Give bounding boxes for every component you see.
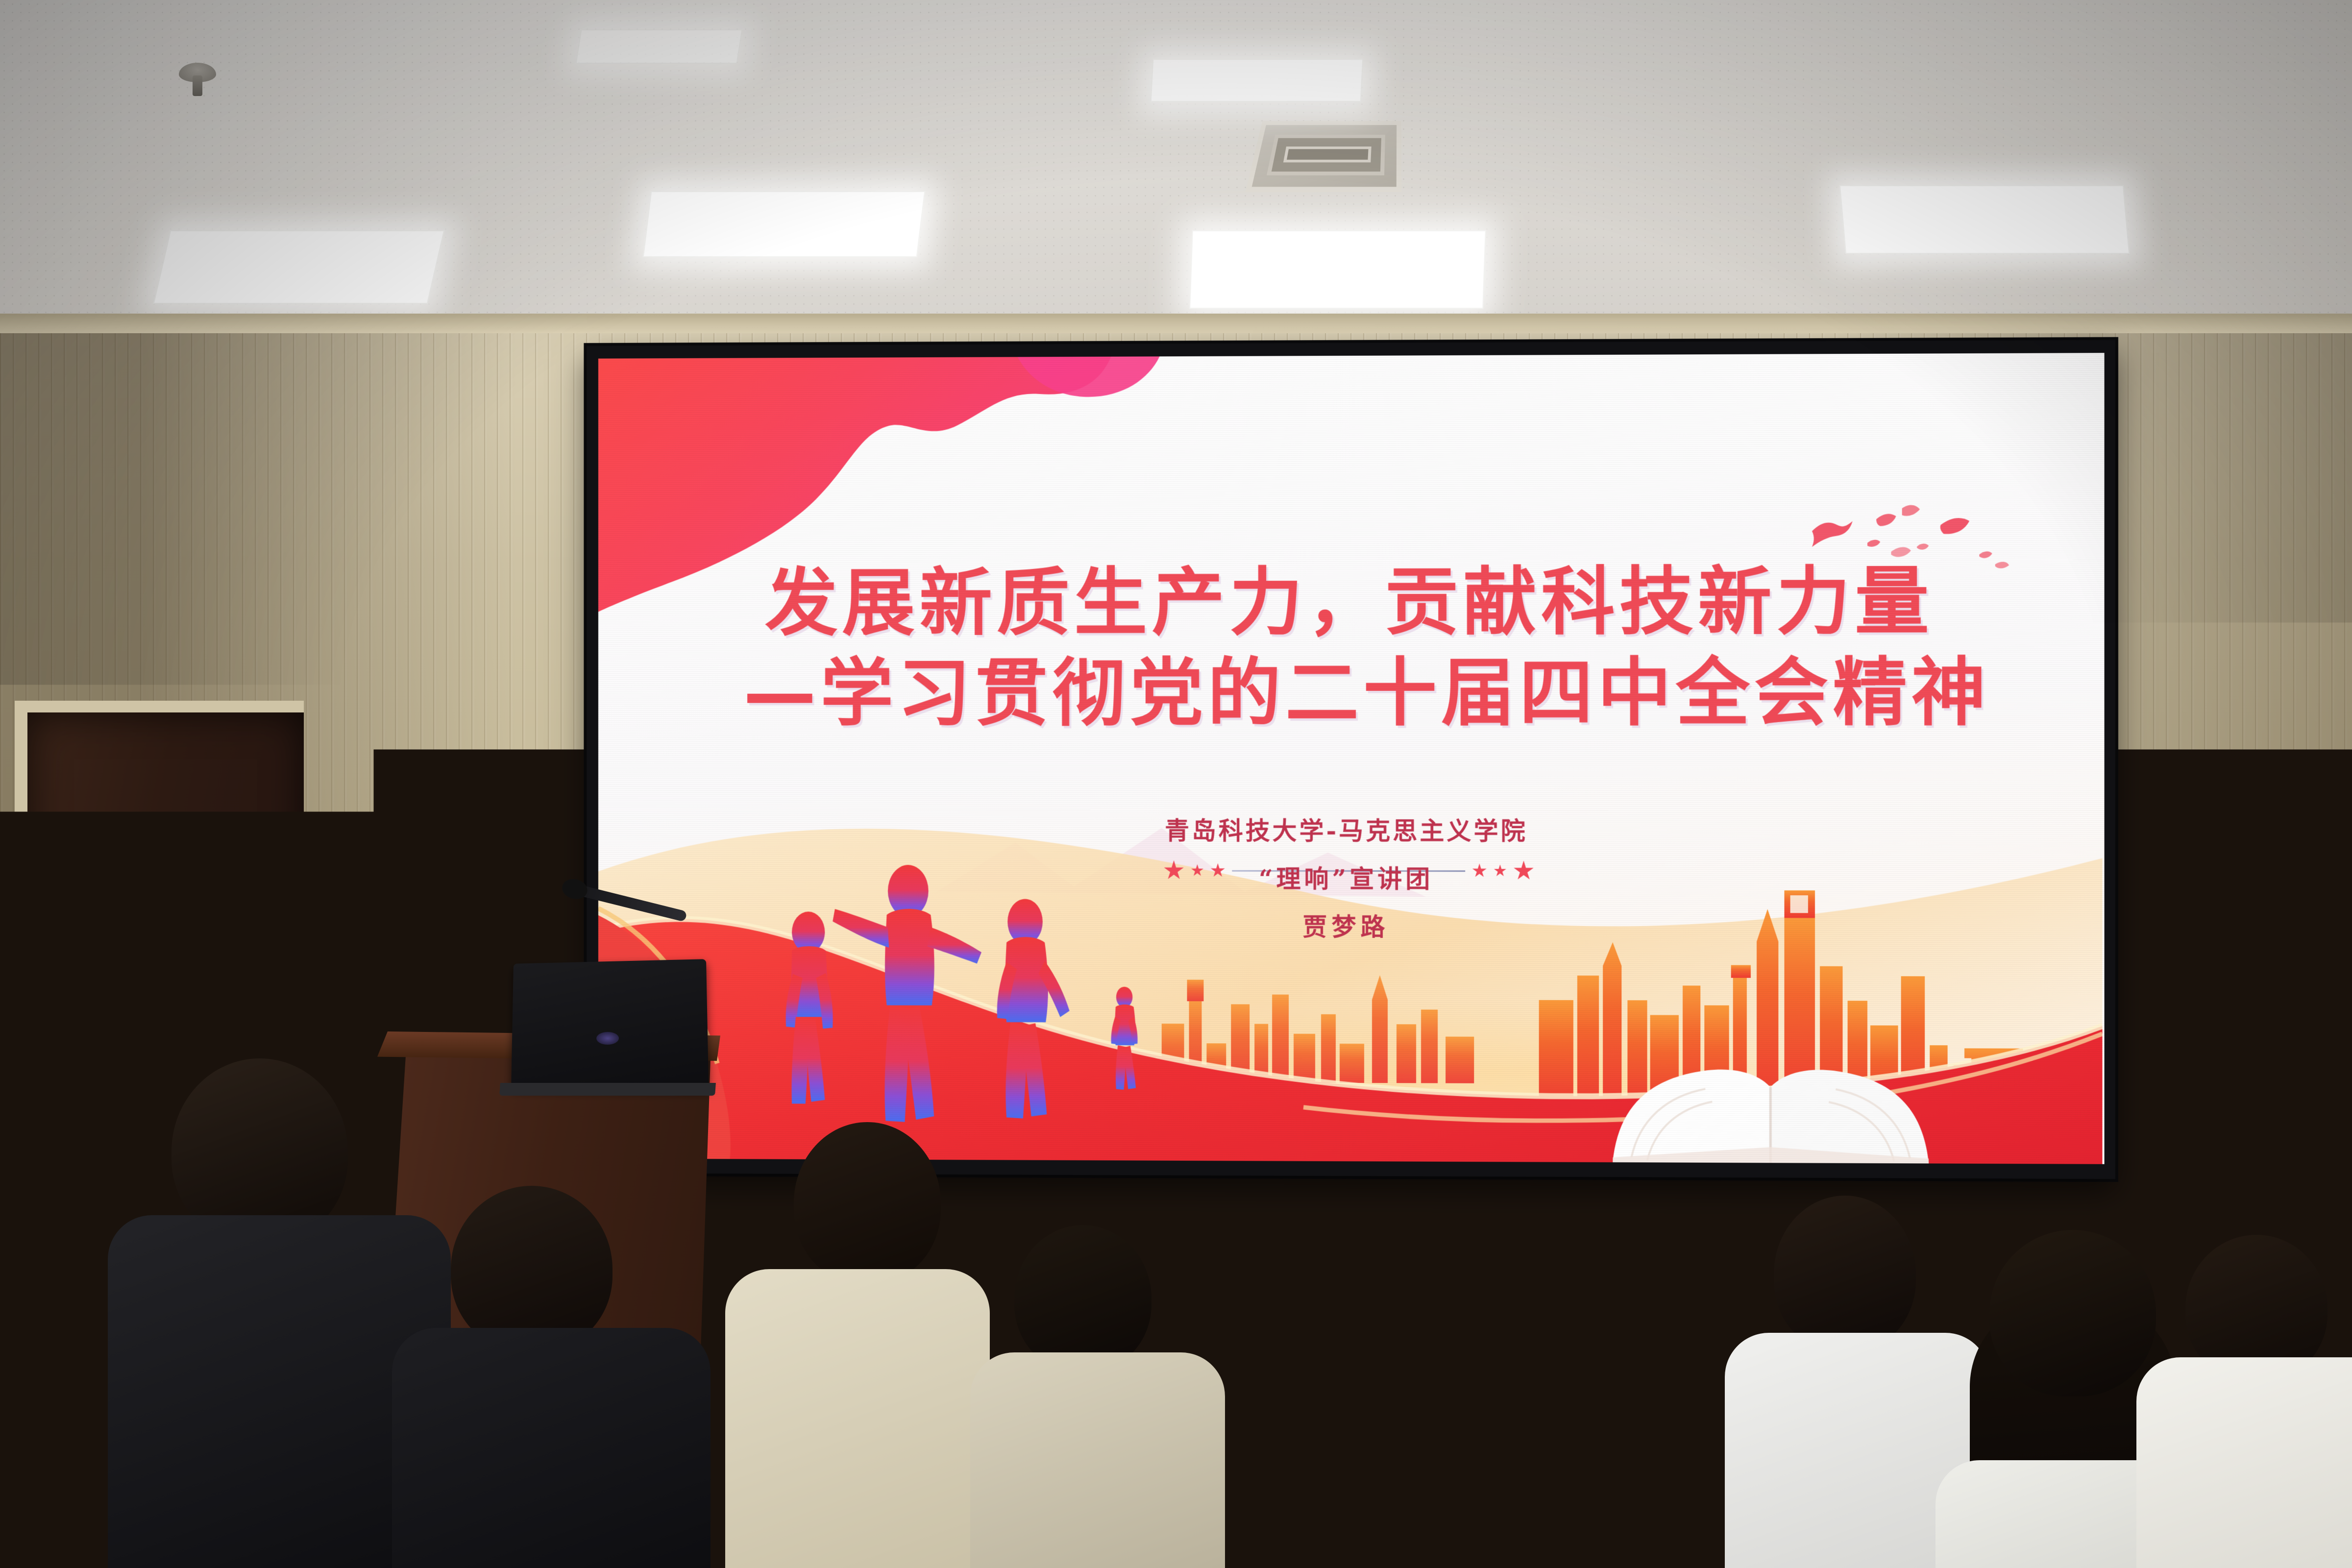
audience-torso <box>2136 1357 2352 1568</box>
presenter-laptop[interactable] <box>511 959 709 1089</box>
presenter-eye <box>404 904 418 909</box>
presenter-eyebrow <box>401 895 420 898</box>
ceiling-light-panel <box>1189 230 1486 309</box>
ceiling-light-panel <box>153 230 445 304</box>
wall-switch-plate[interactable] <box>1357 1352 1402 1396</box>
slide-title-line-2: —学习贯彻党的二十届四中全会精神 <box>598 650 2105 736</box>
sprinkler-icon <box>179 63 216 82</box>
subtitle-team: “理响”宣讲团 <box>598 859 2105 896</box>
plug-icon <box>1270 1370 1296 1394</box>
audience-torso <box>392 1328 710 1568</box>
audience-member <box>985 1225 1200 1568</box>
air-vent-icon <box>1246 121 1402 192</box>
audience-torso <box>725 1269 990 1568</box>
audience-head <box>1014 1225 1151 1372</box>
ceiling-light-panel <box>643 191 926 257</box>
audience-head <box>1774 1196 1916 1352</box>
audience-member <box>137 1058 412 1568</box>
subtitle-organization: 青岛科技大学-马克思主义学院 <box>598 811 2105 847</box>
slide-subtitle-block: 青岛科技大学-马克思主义学院 “理响”宣讲团 贾梦路 <box>598 811 2105 944</box>
presenter-eye <box>364 905 378 910</box>
presenter-hair <box>344 855 438 897</box>
audience-head <box>451 1186 612 1352</box>
ceiling-light-panel <box>575 29 742 64</box>
presentation-slide: 发展新质生产力，贡献科技新力量 —学习贯彻党的二十届四中全会精神 青岛科技大学-… <box>598 353 2105 1164</box>
wall-top-trim <box>0 314 2352 333</box>
ceiling-light-panel <box>1151 59 1364 102</box>
ceiling-light-panel <box>1839 185 2130 254</box>
audience-member <box>715 1122 990 1568</box>
audience-head <box>1989 1230 2156 1396</box>
door-knob-icon[interactable] <box>53 1051 66 1063</box>
slide-title-block: 发展新质生产力，贡献科技新力量 —学习贯彻党的二十届四中全会精神 <box>598 560 2105 736</box>
audience-head <box>794 1122 941 1284</box>
presenter-mouth <box>379 937 406 947</box>
audience-torso <box>970 1352 1225 1568</box>
ceiling <box>0 0 2352 343</box>
audience-member <box>2151 1235 2352 1568</box>
audience-member <box>412 1186 676 1568</box>
bag-on-chair <box>1614 1272 1777 1448</box>
subtitle-presenter-name: 贾梦路 <box>598 906 2105 944</box>
led-display-frame: 发展新质生产力，贡献科技新力量 —学习贯彻党的二十届四中全会精神 青岛科技大学-… <box>587 340 2115 1179</box>
laptop-base <box>499 1083 716 1096</box>
lecture-room-photo: 发展新质生产力，贡献科技新力量 —学习贯彻党的二十届四中全会精神 青岛科技大学-… <box>0 0 2352 1568</box>
presenter-eyebrow <box>362 896 381 899</box>
slide-title-line-1: 发展新质生产力，贡献科技新力量 <box>598 560 2105 645</box>
